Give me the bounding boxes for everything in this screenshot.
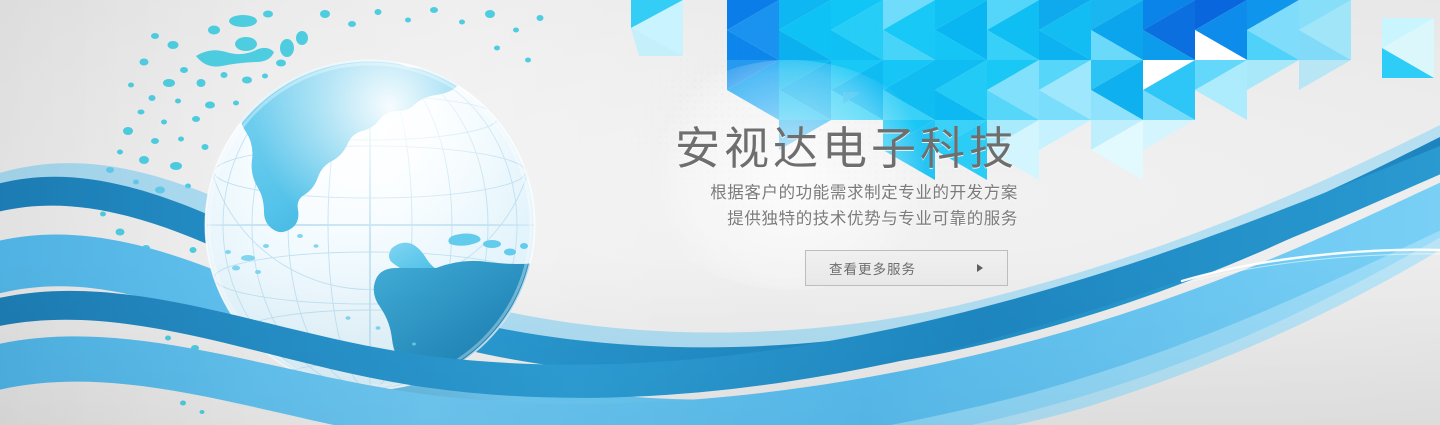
cta-label: 查看更多服务: [829, 258, 916, 278]
hero-content: 安视达电子科技 根据客户的功能需求制定专业的开发方案 提供独特的技术优势与专业可…: [560, 0, 1030, 425]
hero-banner: 安视达电子科技 根据客户的功能需求制定专业的开发方案 提供独特的技术优势与专业可…: [0, 0, 1440, 425]
page-title: 安视达电子科技: [675, 112, 1018, 177]
triangle-right-icon: [977, 264, 983, 272]
subtitle-line-2: 提供独特的技术优势与专业可靠的服务: [727, 207, 1018, 233]
view-more-services-button[interactable]: 查看更多服务: [805, 250, 1008, 286]
subtitle-line-1: 根据客户的功能需求制定专业的开发方案: [710, 181, 1018, 207]
